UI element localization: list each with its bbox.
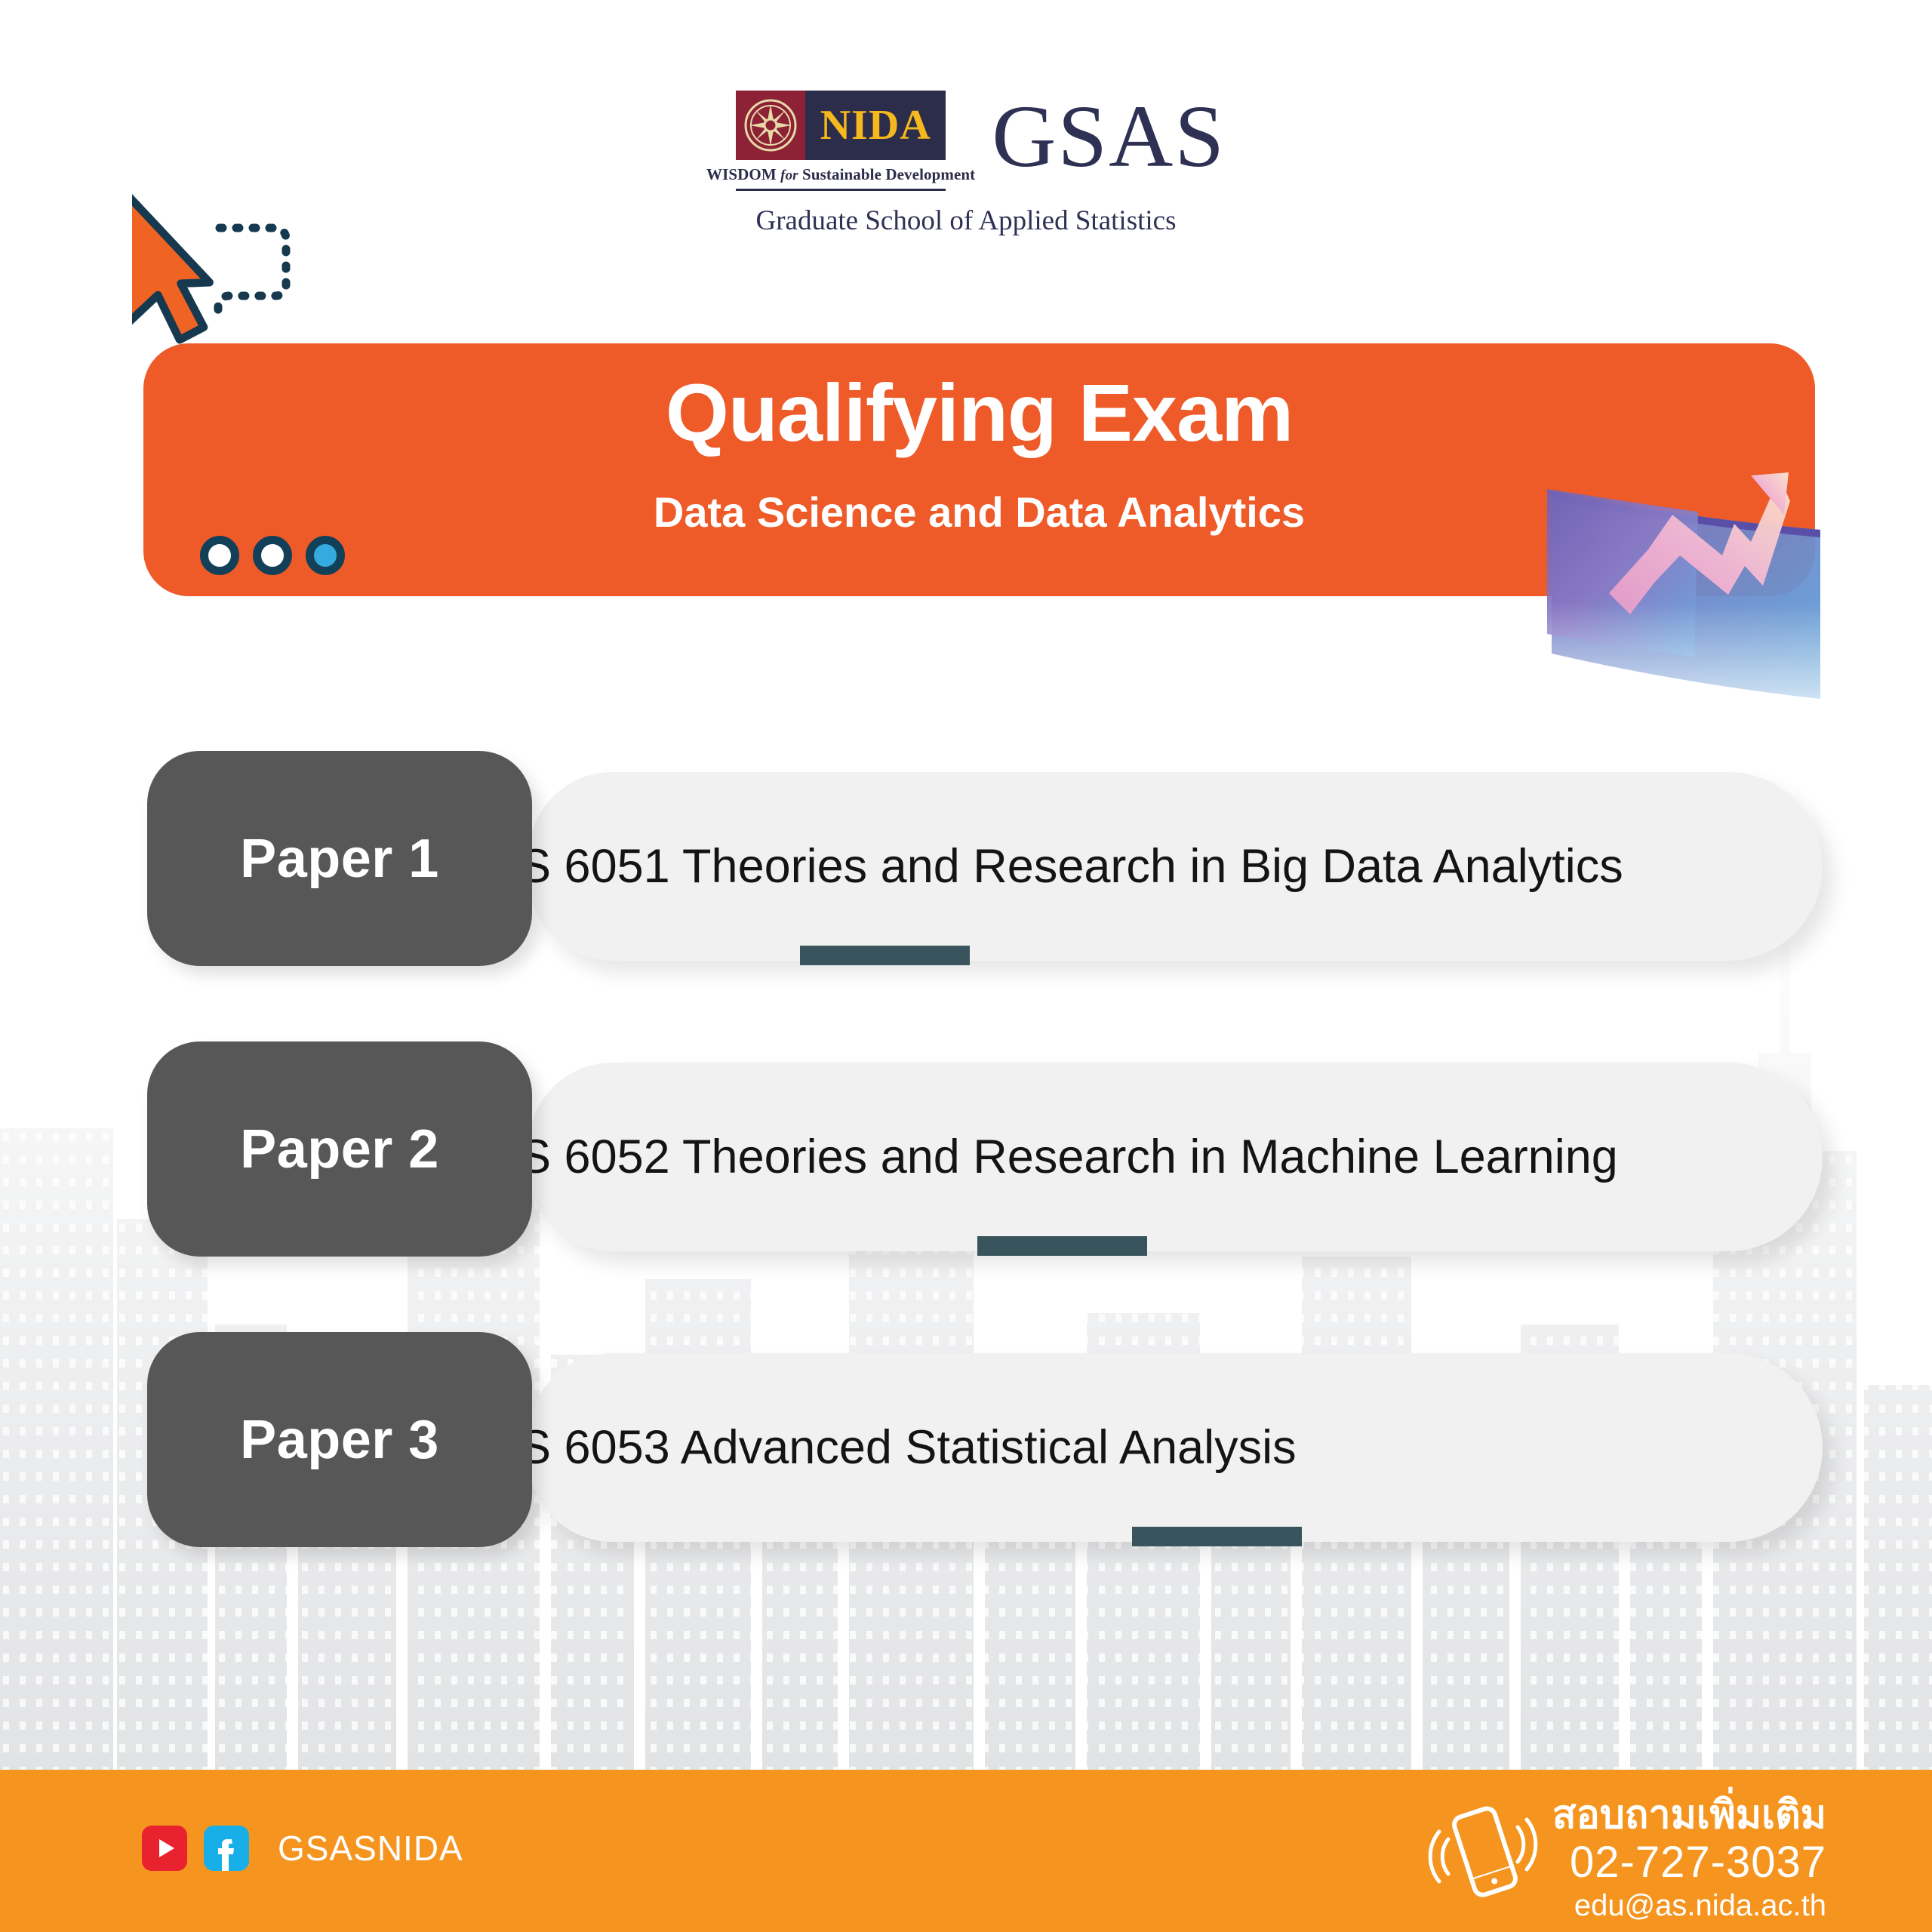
contact-heading: สอบถามเพิ่มเติม <box>1552 1795 1826 1835</box>
paper-accent-bar-2 <box>977 1236 1147 1256</box>
paper-card-3: DADS 6053 Advanced Statistical Analysis <box>528 1353 1823 1542</box>
page-title: Qualifying Exam <box>143 372 1815 454</box>
ringing-phone-icon <box>1426 1795 1539 1912</box>
tagline-for: for <box>780 168 798 183</box>
social-handle: GSASNIDA <box>278 1828 463 1869</box>
paper-title-2: DADS 6052 Theories and Research in Machi… <box>419 1063 1777 1251</box>
growth-chart-illustration <box>1524 445 1841 732</box>
window-dot-3 <box>306 536 345 575</box>
paper-title-3: DADS 6053 Advanced Statistical Analysis <box>419 1353 1777 1542</box>
paper-accent-bar-3 <box>1132 1527 1302 1546</box>
window-dots <box>200 536 345 575</box>
nida-tagline: WISDOM for Sustainable Development <box>706 165 975 184</box>
youtube-icon[interactable] <box>142 1826 187 1871</box>
paper-row-3[interactable]: DADS 6053 Advanced Statistical Analysis … <box>0 1332 1932 1547</box>
paper-title-1: DADS 6051 Theories and Research in Big D… <box>419 772 1777 961</box>
nida-emblem-icon <box>736 91 805 160</box>
nida-wordmark: NIDA <box>820 104 931 146</box>
facebook-icon[interactable] <box>204 1826 249 1871</box>
window-dot-1 <box>200 536 239 575</box>
gsas-acronym: GSAS <box>992 96 1226 178</box>
poster-canvas: NIDA WISDOM for Sustainable Development … <box>0 0 1932 1932</box>
paper-row-1[interactable]: DADS 6051 Theories and Research in Big D… <box>0 751 1932 966</box>
contact-email[interactable]: edu@as.nida.ac.th <box>1552 1890 1826 1921</box>
paper-row-2[interactable]: DADS 6052 Theories and Research in Machi… <box>0 1041 1932 1257</box>
paper-accent-bar-1 <box>800 946 970 965</box>
paper-tab-1[interactable]: Paper 1 <box>147 751 532 966</box>
nida-logo-mark: NIDA WISDOM for Sustainable Development <box>706 91 975 191</box>
paper-tab-3[interactable]: Paper 3 <box>147 1332 532 1547</box>
footer-bar: GSASNIDA สอบถามเพิ่มเติม 02-7 <box>0 1770 1932 1932</box>
paper-tab-2[interactable]: Paper 2 <box>147 1041 532 1257</box>
window-dot-2 <box>253 536 292 575</box>
paper-list: DADS 6051 Theories and Research in Big D… <box>0 751 1932 1623</box>
nida-tagline-rule <box>736 189 946 191</box>
cursor-pointer-icon <box>132 189 328 355</box>
social-links[interactable]: GSASNIDA <box>142 1826 463 1871</box>
paper-card-2: DADS 6052 Theories and Research in Machi… <box>528 1063 1823 1251</box>
tagline-wisdom: WISDOM <box>706 165 777 183</box>
contact-phone[interactable]: 02-727-3037 <box>1552 1840 1826 1884</box>
tagline-rest: Sustainable Development <box>802 165 975 183</box>
contact-block: สอบถามเพิ่มเติม 02-727-3037 edu@as.nida.… <box>1426 1795 1826 1921</box>
paper-card-1: DADS 6051 Theories and Research in Big D… <box>528 772 1823 961</box>
